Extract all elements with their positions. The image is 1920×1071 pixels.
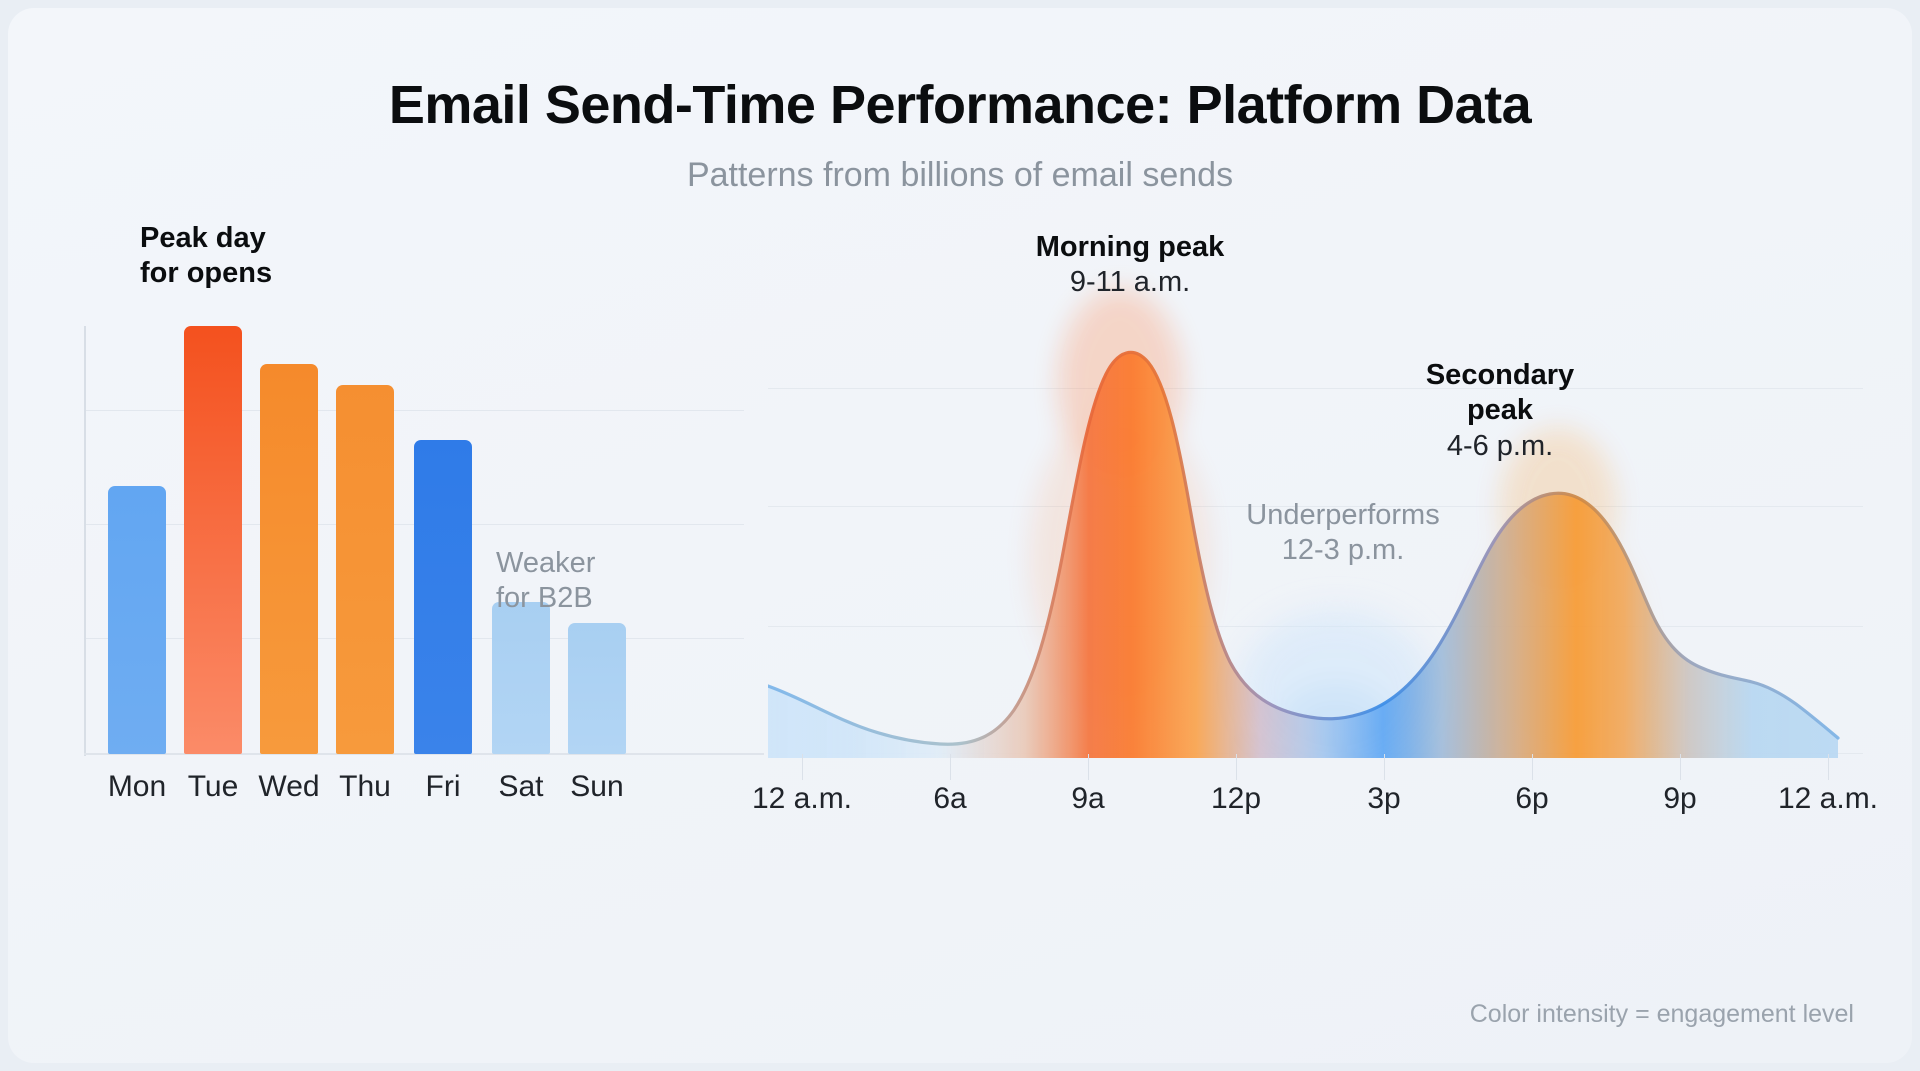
- bar-label-sat: Sat: [481, 770, 561, 804]
- annotation-secondary-peak: Secondary peak 4-6 p.m.: [1390, 358, 1610, 464]
- bar-label-mon: Mon: [97, 770, 177, 804]
- tick-12am-end: [1828, 754, 1829, 780]
- bar-sun[interactable]: [568, 623, 626, 754]
- annotation-under-line1: Underperforms: [1228, 498, 1458, 533]
- bar-label-wed: Wed: [249, 770, 329, 804]
- annotation-weaker-line2: for B2B: [496, 581, 595, 616]
- tick-9a: [1088, 754, 1089, 780]
- time-axis-labels: 12 a.m. 6a 9a 12p 3p 6p 9p 12 a.m.: [768, 782, 1878, 830]
- annotation-weaker-b2b: Weaker for B2B: [496, 546, 595, 617]
- bar-thu[interactable]: [336, 385, 394, 754]
- bar-sat[interactable]: [492, 602, 550, 754]
- bars-area: [76, 258, 756, 754]
- tick-6p: [1532, 754, 1533, 780]
- annotation-peak-day-line2: for opens: [140, 256, 272, 291]
- annotation-weaker-line1: Weaker: [496, 546, 595, 581]
- annotation-under-line2: 12-3 p.m.: [1228, 533, 1458, 568]
- bar-fri[interactable]: [414, 440, 472, 754]
- time-label-3p: 3p: [1334, 782, 1434, 816]
- annotation-morning-line1: Morning peak: [1030, 230, 1230, 265]
- hourly-engagement-chart: 12 a.m. 6a 9a 12p 3p 6p 9p 12 a.m. Morni…: [768, 258, 1878, 918]
- bar-label-fri: Fri: [403, 770, 483, 804]
- tick-12p: [1236, 754, 1237, 780]
- annotation-morning-peak: Morning peak 9-11 a.m.: [1030, 230, 1230, 301]
- bar-tue[interactable]: [184, 326, 242, 754]
- bar-label-tue: Tue: [173, 770, 253, 804]
- time-label-9a: 9a: [1038, 782, 1138, 816]
- time-label-6p: 6p: [1482, 782, 1582, 816]
- bar-label-sun: Sun: [557, 770, 637, 804]
- legend-footnote: Color intensity = engagement level: [1470, 1000, 1854, 1029]
- tick-6a: [950, 754, 951, 780]
- annotation-secondary-line1: Secondary peak: [1390, 358, 1610, 429]
- tick-12am-start: [802, 754, 803, 780]
- page-subtitle: Patterns from billions of email sends: [8, 156, 1912, 195]
- time-label-6a: 6a: [900, 782, 1000, 816]
- annotation-peak-day: Peak day for opens: [140, 221, 272, 292]
- annotation-morning-line2: 9-11 a.m.: [1030, 265, 1230, 300]
- tick-3p: [1384, 754, 1385, 780]
- bar-label-thu: Thu: [325, 770, 405, 804]
- time-label-9p: 9p: [1630, 782, 1730, 816]
- annotation-secondary-line2: 4-6 p.m.: [1390, 429, 1610, 464]
- bar-wed[interactable]: [260, 364, 318, 754]
- page-title: Email Send-Time Performance: Platform Da…: [8, 74, 1912, 136]
- chart-card: Email Send-Time Performance: Platform Da…: [8, 8, 1912, 1063]
- annotation-underperforms: Underperforms 12-3 p.m.: [1228, 498, 1458, 569]
- time-label-12p: 12p: [1186, 782, 1286, 816]
- bar-axis-labels: Mon Tue Wed Thu Fri Sat Sun: [76, 770, 756, 820]
- bar-chart: Mon Tue Wed Thu Fri Sat Sun Peak day for…: [76, 258, 756, 918]
- tick-9p: [1680, 754, 1681, 780]
- bar-mon[interactable]: [108, 486, 166, 754]
- time-label-12am-end: 12 a.m.: [1758, 782, 1898, 816]
- time-label-12am-start: 12 a.m.: [732, 782, 872, 816]
- annotation-peak-day-line1: Peak day: [140, 221, 272, 256]
